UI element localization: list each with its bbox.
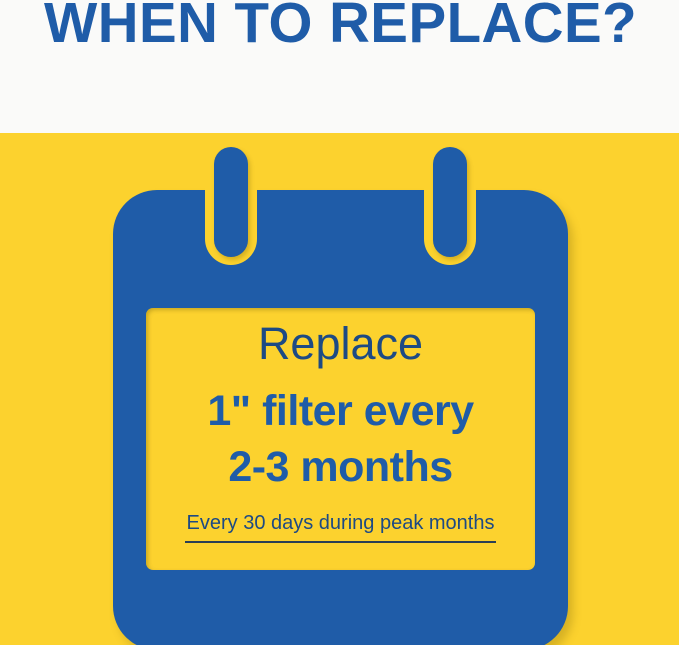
replace-interval-line-2: 2-3 months	[146, 441, 535, 493]
peak-months-note-wrap: Every 30 days during peak months	[146, 511, 535, 543]
header-band: WHEN TO REPLACE?	[0, 0, 679, 133]
page-title: WHEN TO REPLACE?	[44, 0, 638, 55]
calendar-ring-right	[433, 147, 467, 257]
calendar-message-panel: Replace 1" filter every 2-3 months Every…	[146, 308, 535, 570]
calendar-icon: Replace 1" filter every 2-3 months Every…	[113, 190, 568, 645]
calendar-message-content: Replace 1" filter every 2-3 months Every…	[146, 308, 535, 570]
replace-interval-line-1: 1" filter every	[146, 385, 535, 437]
replacement-schedule-infographic: WHEN TO REPLACE? Replace 1" filter every…	[0, 0, 679, 645]
replace-label: Replace	[146, 318, 535, 370]
peak-months-note: Every 30 days during peak months	[185, 511, 497, 543]
calendar-ring-left	[214, 147, 248, 257]
yellow-stage: Replace 1" filter every 2-3 months Every…	[0, 133, 679, 645]
